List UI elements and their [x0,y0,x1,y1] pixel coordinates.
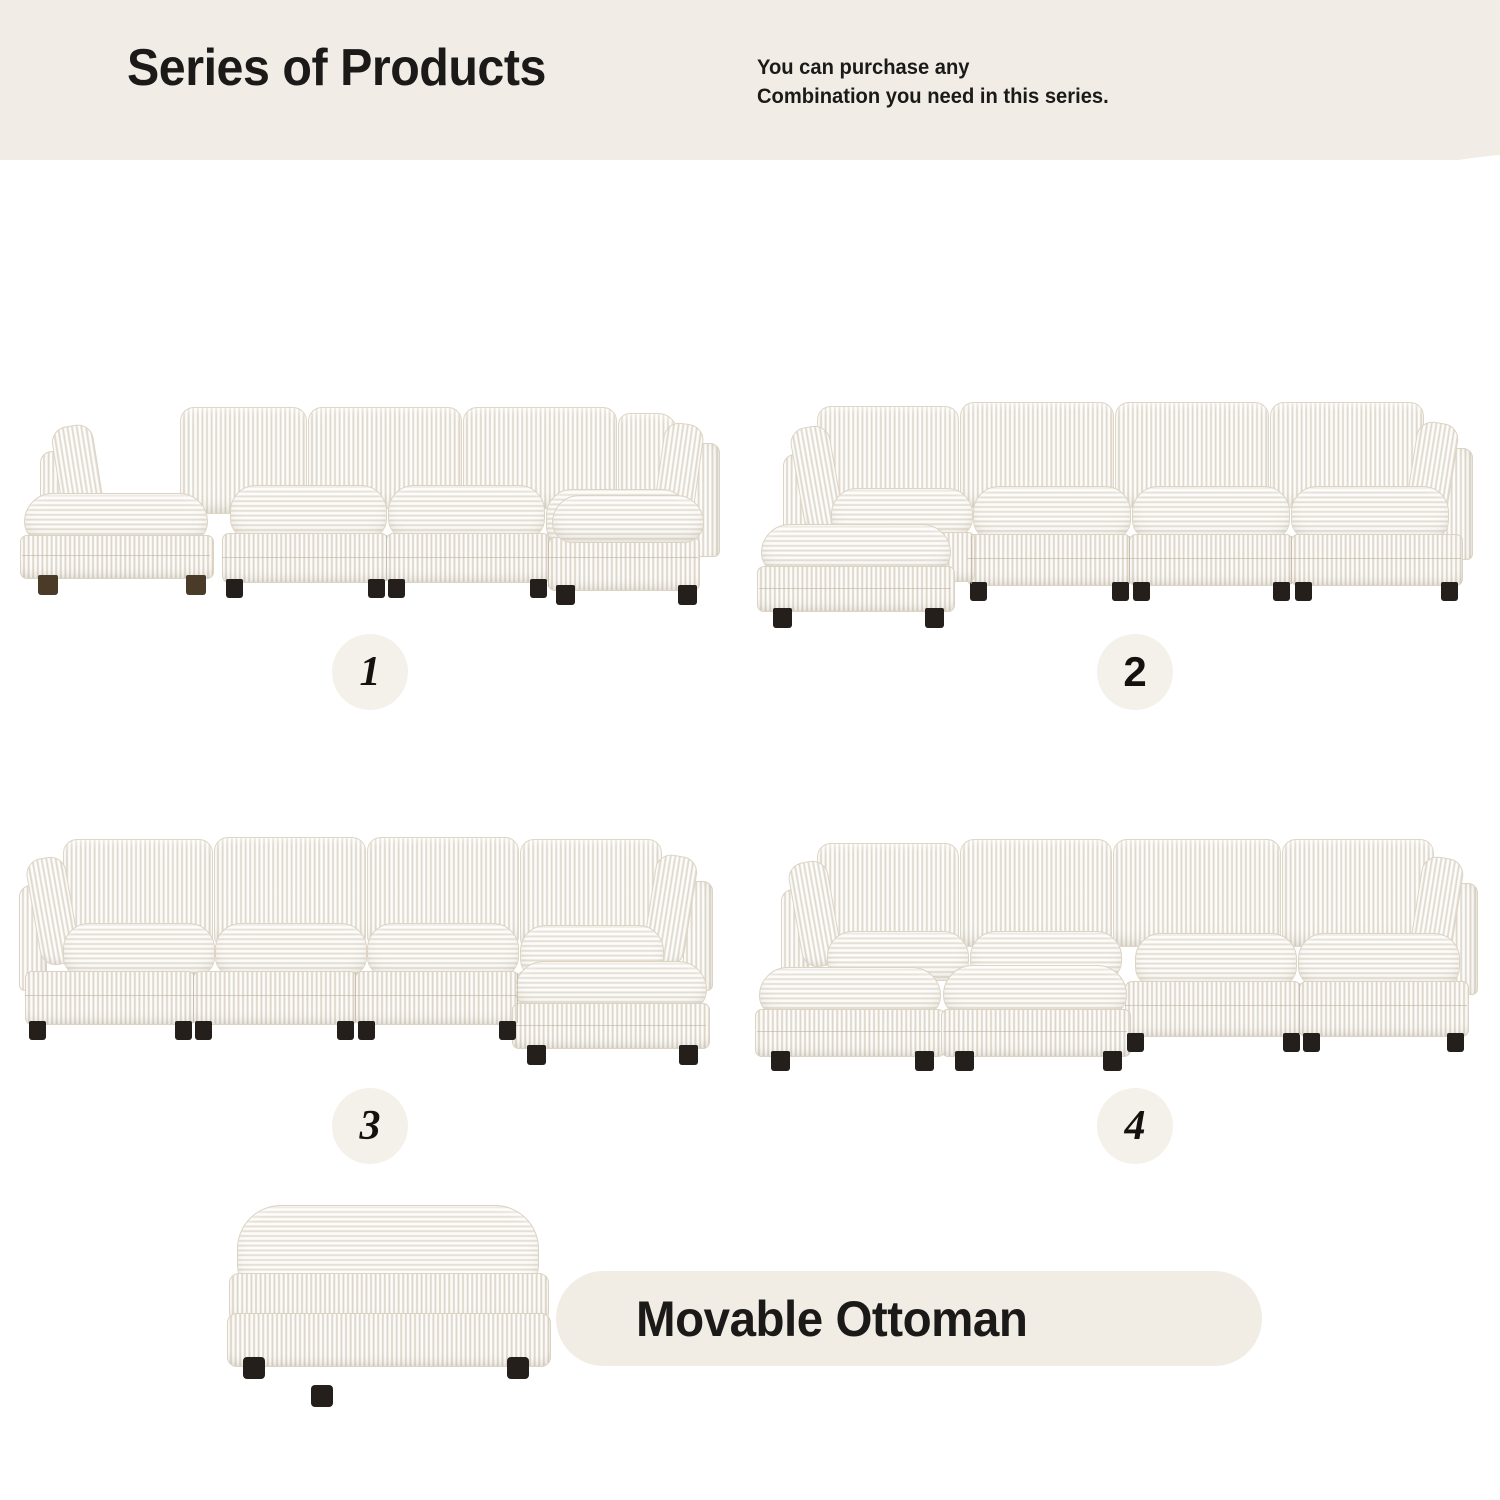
ottoman-foot [507,1357,529,1379]
module-base [1299,981,1469,1037]
badge-number: 2 [1123,648,1146,696]
module-base [1291,534,1463,586]
module-base [25,971,195,1025]
module-base [193,971,357,1025]
seat-cushion [63,923,215,977]
sofa-foot [499,1021,516,1040]
sofa-foot [679,1045,698,1065]
configuration-2-illustration [755,392,1485,617]
back-cushion [1113,839,1281,947]
badge-number: 3 [360,1102,381,1150]
badge-number: 1 [360,648,381,696]
sofa-foot [678,585,697,605]
ottoman-foot [243,1357,265,1379]
sofa-foot [1303,1033,1320,1052]
module-base [1129,534,1293,586]
configuration-4-illustration [755,825,1485,1055]
sofa-foot [195,1021,212,1040]
sofa-foot [1112,582,1129,601]
module-base [355,971,519,1025]
badge-number: 4 [1125,1102,1146,1150]
sofa-foot [226,579,243,598]
ottoman-base [941,1009,1131,1057]
ottoman-base [755,1009,945,1057]
sofa-foot [1447,1033,1464,1052]
sofa-foot [1103,1051,1122,1071]
module-base [386,533,550,583]
seat-cushion [1135,933,1297,987]
sofa-foot [175,1021,192,1040]
sofa-foot [1441,582,1458,601]
page-subtitle: You can purchase any Combination you nee… [757,53,1109,111]
seat-cushion [1298,933,1460,987]
sofa-foot [955,1051,974,1071]
movable-ottoman-label: Movable Ottoman [636,1290,1027,1348]
sofa-foot [38,575,58,595]
seat-cushion [1132,486,1290,540]
ottoman-foot [311,1385,333,1407]
sofa-foot [773,608,792,628]
ottoman-lower-base [227,1313,551,1367]
sofa-foot [1133,582,1150,601]
configuration-1-illustration [10,395,730,620]
sofa-foot [925,608,944,628]
sofa-foot [1295,582,1312,601]
configuration-badge-3: 3 [332,1088,408,1164]
sofa-foot [556,585,575,605]
sofa-foot [915,1051,934,1071]
ottoman-cushion [552,495,704,543]
seat-cushion [367,923,519,977]
sofa-foot [970,582,987,601]
ottoman-base [20,535,214,579]
header-band-mask [0,160,1500,280]
ottoman-base [757,566,955,612]
seat-cushion [230,485,387,539]
seat-cushion [388,485,545,539]
seat-cushion [973,486,1131,540]
page-title: Series of Products [127,38,546,98]
sofa-foot [186,575,206,595]
sofa-foot [368,579,385,598]
configuration-badge-1: 1 [332,634,408,710]
sofa-foot [358,1021,375,1040]
configuration-badge-4: 4 [1097,1088,1173,1164]
sofa-foot [1283,1033,1300,1052]
configuration-badge-2: 2 [1097,634,1173,710]
module-base [222,533,388,583]
movable-ottoman-banner: Movable Ottoman [556,1271,1262,1366]
sofa-foot [1127,1033,1144,1052]
seat-cushion [1291,486,1449,540]
sofa-foot [1273,582,1290,601]
sofa-foot [337,1021,354,1040]
module-base [548,537,700,591]
movable-ottoman-illustration [215,1195,585,1425]
ottoman-base [512,1003,710,1049]
sofa-foot [771,1051,790,1071]
sofa-foot [388,579,405,598]
sofa-foot [527,1045,546,1065]
sofa-foot [530,579,547,598]
seat-cushion [215,923,367,977]
configuration-3-illustration [15,825,735,1055]
module-base [1125,981,1301,1037]
sofa-foot [29,1021,46,1040]
module-base [967,534,1131,586]
